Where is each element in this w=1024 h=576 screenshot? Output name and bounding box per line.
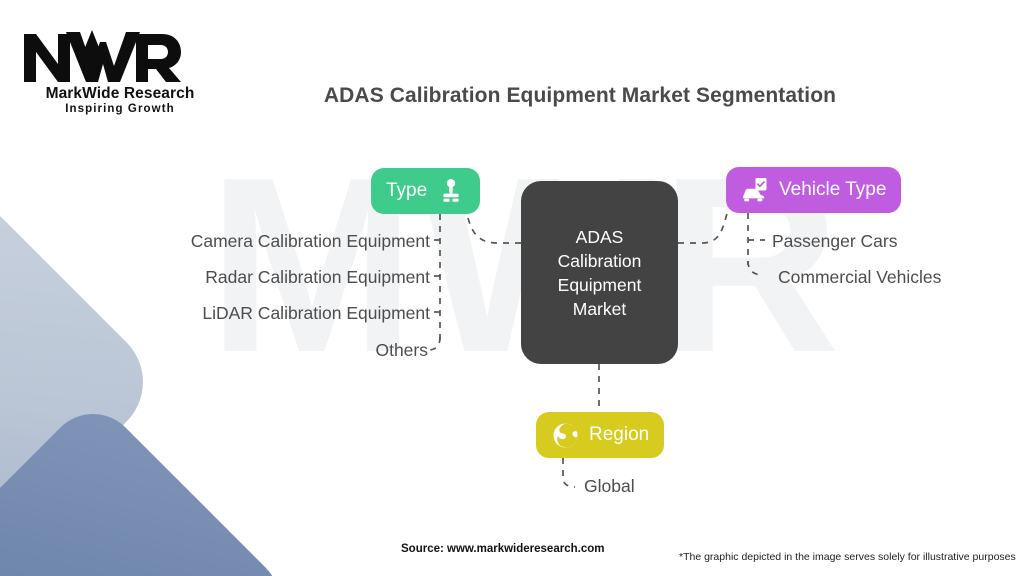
leaf-label-type-2: Radar Calibration Equipment bbox=[0, 267, 430, 288]
source-text: Source: www.markwideresearch.com bbox=[401, 543, 604, 555]
wire-region-item-1 bbox=[563, 458, 575, 487]
branch-pill-vehicle-type-label: Vehicle Type bbox=[779, 179, 886, 201]
branch-pill-region[interactable]: Region bbox=[536, 412, 664, 458]
leaf-label-vehicle-1: Passenger Cars bbox=[772, 231, 897, 252]
leaf-label-vehicle-2: Commercial Vehicles bbox=[778, 267, 941, 288]
disclaimer-text: *The graphic depicted in the image serve… bbox=[679, 551, 1016, 563]
center-node-label: ADAS Calibration Equipment Market bbox=[558, 225, 642, 321]
leaf-label-type-4: Others bbox=[0, 340, 428, 361]
decorative-shape-dark bbox=[0, 395, 298, 576]
globe-icon bbox=[551, 421, 579, 449]
center-node: ADAS Calibration Equipment Market bbox=[521, 181, 678, 364]
wire-vehicle-item-2 bbox=[748, 261, 763, 275]
branch-pill-type-label: Type bbox=[386, 180, 427, 202]
branch-pill-vehicle-type[interactable]: Vehicle Type bbox=[726, 167, 901, 213]
leaf-label-type-1: Camera Calibration Equipment bbox=[0, 231, 430, 252]
mwr-logo-mark bbox=[22, 26, 182, 84]
wire-type-item-4 bbox=[428, 337, 440, 350]
infographic-canvas: MWR MarkWide Research Inspiring Growth A… bbox=[0, 0, 1024, 576]
branch-pill-region-label: Region bbox=[589, 424, 649, 446]
leaf-label-type-3: LiDAR Calibration Equipment bbox=[0, 303, 430, 324]
page-title: ADAS Calibration Equipment Market Segmen… bbox=[180, 84, 980, 108]
car-checklist-icon bbox=[741, 176, 769, 204]
branch-pill-type[interactable]: Type bbox=[371, 168, 480, 214]
joystick-icon bbox=[437, 177, 465, 205]
leaf-label-region-1: Global bbox=[584, 476, 635, 497]
